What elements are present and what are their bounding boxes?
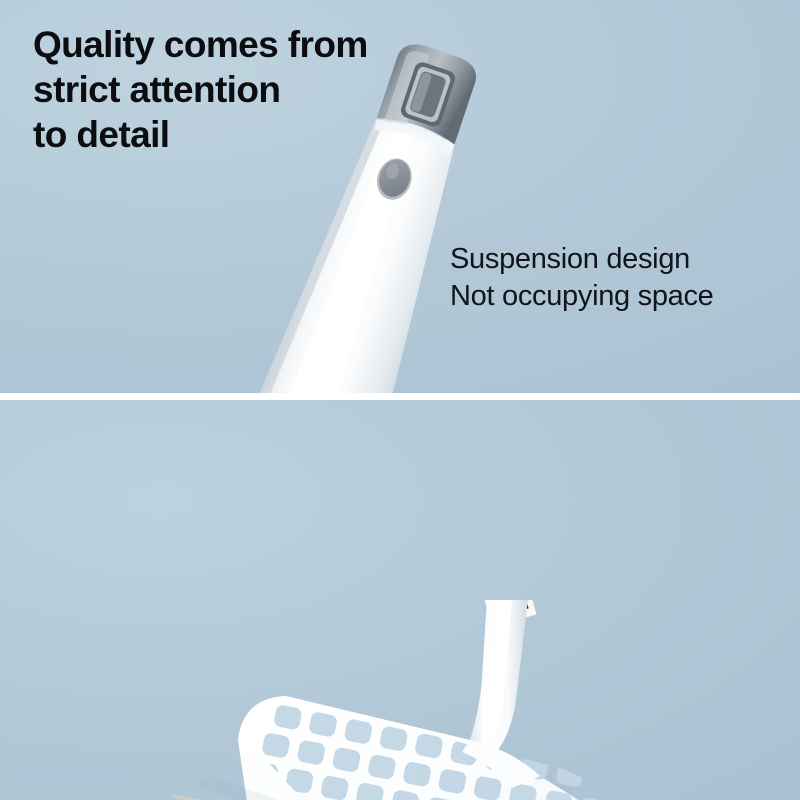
suspension-design-panel: Quality comes from strict attention to d… (0, 0, 800, 393)
product-marketing-image: Quality comes from strict attention to d… (0, 0, 800, 800)
callout-suspension-design: Suspension design Not occupying space (450, 241, 795, 315)
squeegee-head-illustration (0, 400, 800, 800)
page-headline: Quality comes from strict attention to d… (33, 22, 453, 157)
panel-divider (0, 393, 800, 400)
large-scraper-panel: 31CM large scraper Increase the size, La… (0, 400, 800, 800)
